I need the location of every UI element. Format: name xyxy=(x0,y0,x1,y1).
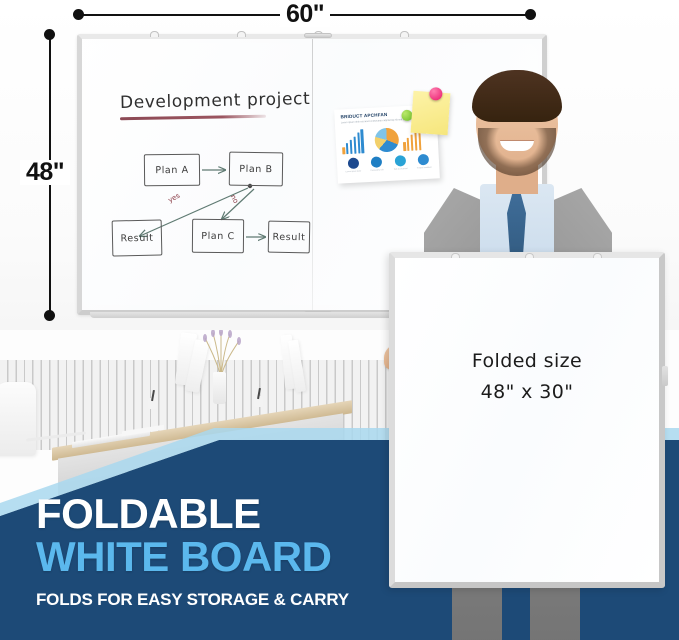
banner-text-block: FOLDABLE WHITE BOARD FOLDS FOR EASY STOR… xyxy=(36,494,396,610)
headline-primary: FOLDABLE xyxy=(36,494,396,534)
folded-board-surface xyxy=(395,258,659,582)
headline-secondary: WHITE BOARD xyxy=(36,536,396,579)
beard xyxy=(478,128,556,176)
folded-size-text-block: Folded size 48" x 30" xyxy=(395,350,659,403)
wall-hook-icon xyxy=(525,253,534,258)
subheadline: FOLDS FOR EASY STORAGE & CARRY xyxy=(36,590,396,610)
folded-size-line-1: Folded size xyxy=(395,350,659,372)
product-marketing-image: 60" 48" Development project xyxy=(0,0,679,640)
hair xyxy=(472,70,562,122)
wall-hook-icon xyxy=(593,253,602,258)
frame-clip-icon xyxy=(662,366,668,386)
folded-size-line-2: 48" x 30" xyxy=(395,381,659,403)
folded-whiteboard-held: Folded size 48" x 30" xyxy=(389,252,665,588)
wall-hook-icon xyxy=(451,253,460,258)
